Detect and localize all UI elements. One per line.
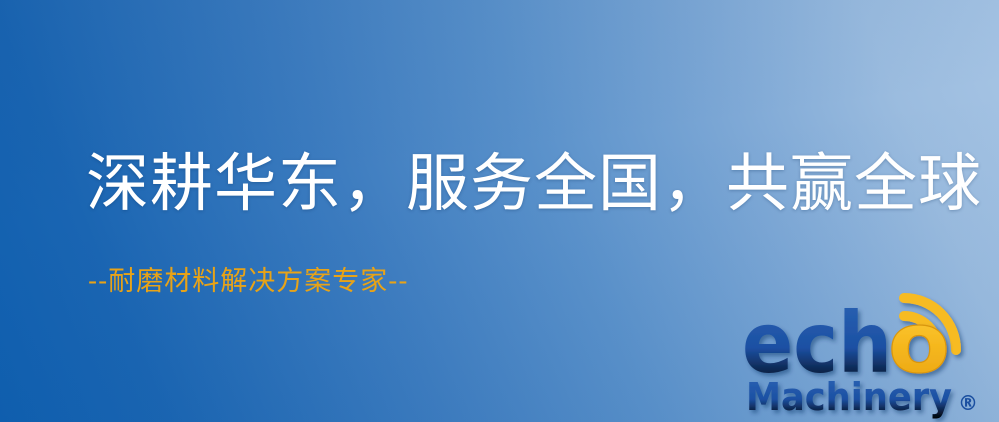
page-title: 深耕华东，服务全国，共赢全球 xyxy=(86,152,982,215)
page-subtitle: --耐磨材料解决方案专家-- xyxy=(88,268,409,295)
echo-machinery-logo[interactable]: ech o Machinery ® xyxy=(742,296,994,420)
logo-tagline: Machinery xyxy=(746,375,952,419)
registered-trademark-icon: ® xyxy=(958,391,978,415)
promo-banner: 深耕华东，服务全国，共赢全球 --耐磨材料解决方案专家-- xyxy=(0,0,999,422)
